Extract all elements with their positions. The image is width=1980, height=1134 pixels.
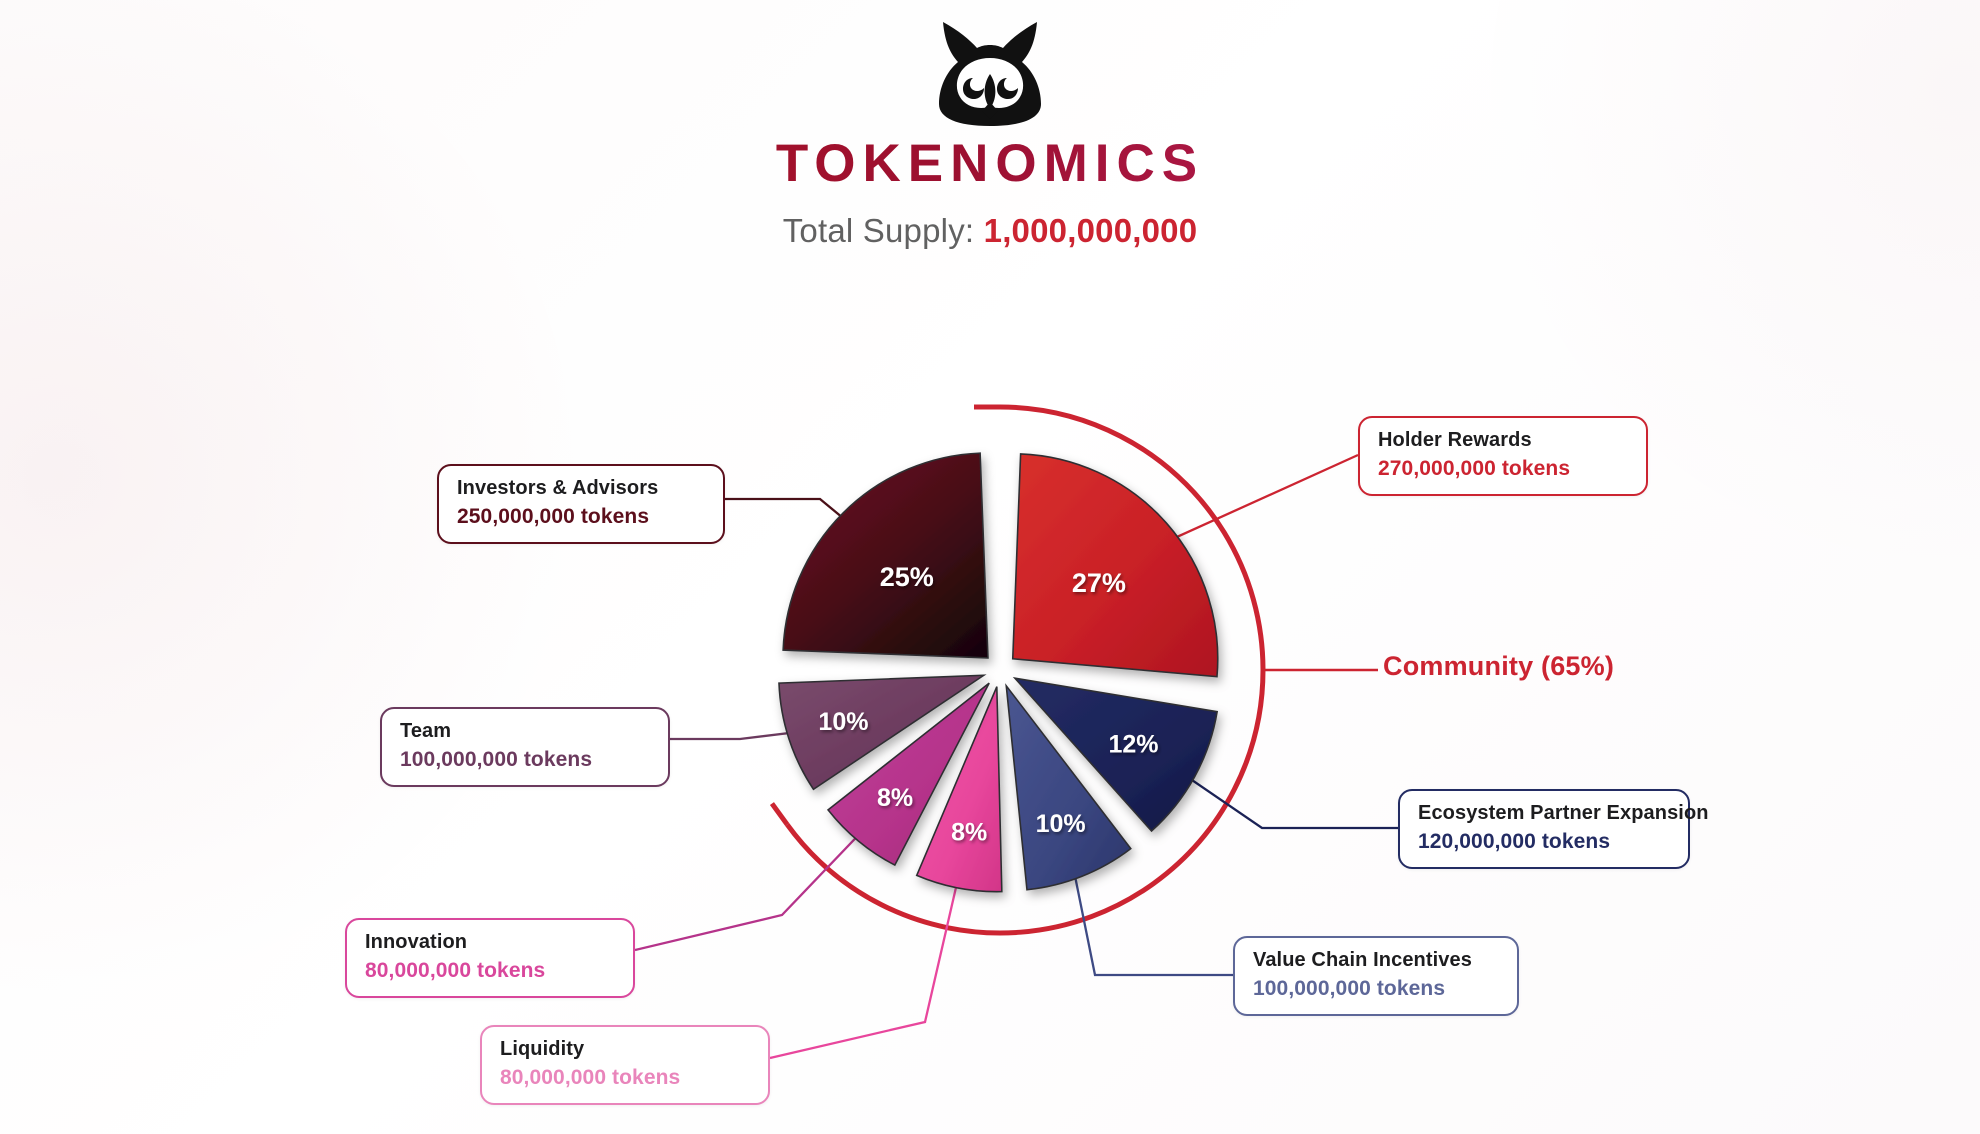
callout-ecosystem-partner-expansion[interactable]: Ecosystem Partner Expansion120,000,000 t… (1398, 789, 1690, 869)
callout-title: Ecosystem Partner Expansion (1418, 802, 1670, 825)
pie-slices (779, 453, 1218, 892)
community-group-label: Community (65%) (1383, 651, 1614, 682)
callout-value: 100,000,000 tokens (1253, 977, 1499, 1001)
callout-value: 80,000,000 tokens (365, 959, 615, 983)
callout-investors-advisors[interactable]: Investors & Advisors250,000,000 tokens (437, 464, 725, 544)
callout-holder-rewards[interactable]: Holder Rewards270,000,000 tokens (1358, 416, 1648, 496)
callout-value: 250,000,000 tokens (457, 505, 705, 529)
callout-team[interactable]: Team100,000,000 tokens (380, 707, 670, 787)
slice-percent-label: 8% (877, 784, 913, 812)
callout-title: Value Chain Incentives (1253, 949, 1499, 972)
callout-value: 100,000,000 tokens (400, 748, 650, 772)
callout-title: Holder Rewards (1378, 429, 1628, 452)
callout-title: Team (400, 720, 650, 743)
callout-value: 270,000,000 tokens (1378, 457, 1628, 481)
callout-innovation[interactable]: Innovation80,000,000 tokens (345, 918, 635, 998)
slice-percent-label: 25% (880, 562, 934, 592)
callout-value-chain-incentives[interactable]: Value Chain Incentives100,000,000 tokens (1233, 936, 1519, 1016)
pie-slice[interactable] (783, 453, 988, 658)
callout-value: 80,000,000 tokens (500, 1066, 750, 1090)
callout-title: Investors & Advisors (457, 477, 705, 500)
callout-value: 120,000,000 tokens (1418, 830, 1670, 854)
slice-percent-label: 12% (1108, 730, 1158, 758)
slice-percent-label: 8% (951, 819, 987, 847)
callout-title: Innovation (365, 931, 615, 954)
callout-title: Liquidity (500, 1038, 750, 1061)
slice-percent-label: 10% (818, 708, 868, 736)
tokenomics-infographic: TOKENOMICS Total Supply: 1,000,000,000 (0, 0, 1980, 1134)
slice-percent-label: 10% (1036, 810, 1086, 838)
pie-chart-svg: 27%12%10%8%8%10%25% (0, 0, 1980, 1134)
slice-percent-label: 27% (1072, 568, 1126, 598)
pie-chart-area: 27%12%10%8%8%10%25% (0, 0, 1980, 1134)
callout-liquidity[interactable]: Liquidity80,000,000 tokens (480, 1025, 770, 1105)
